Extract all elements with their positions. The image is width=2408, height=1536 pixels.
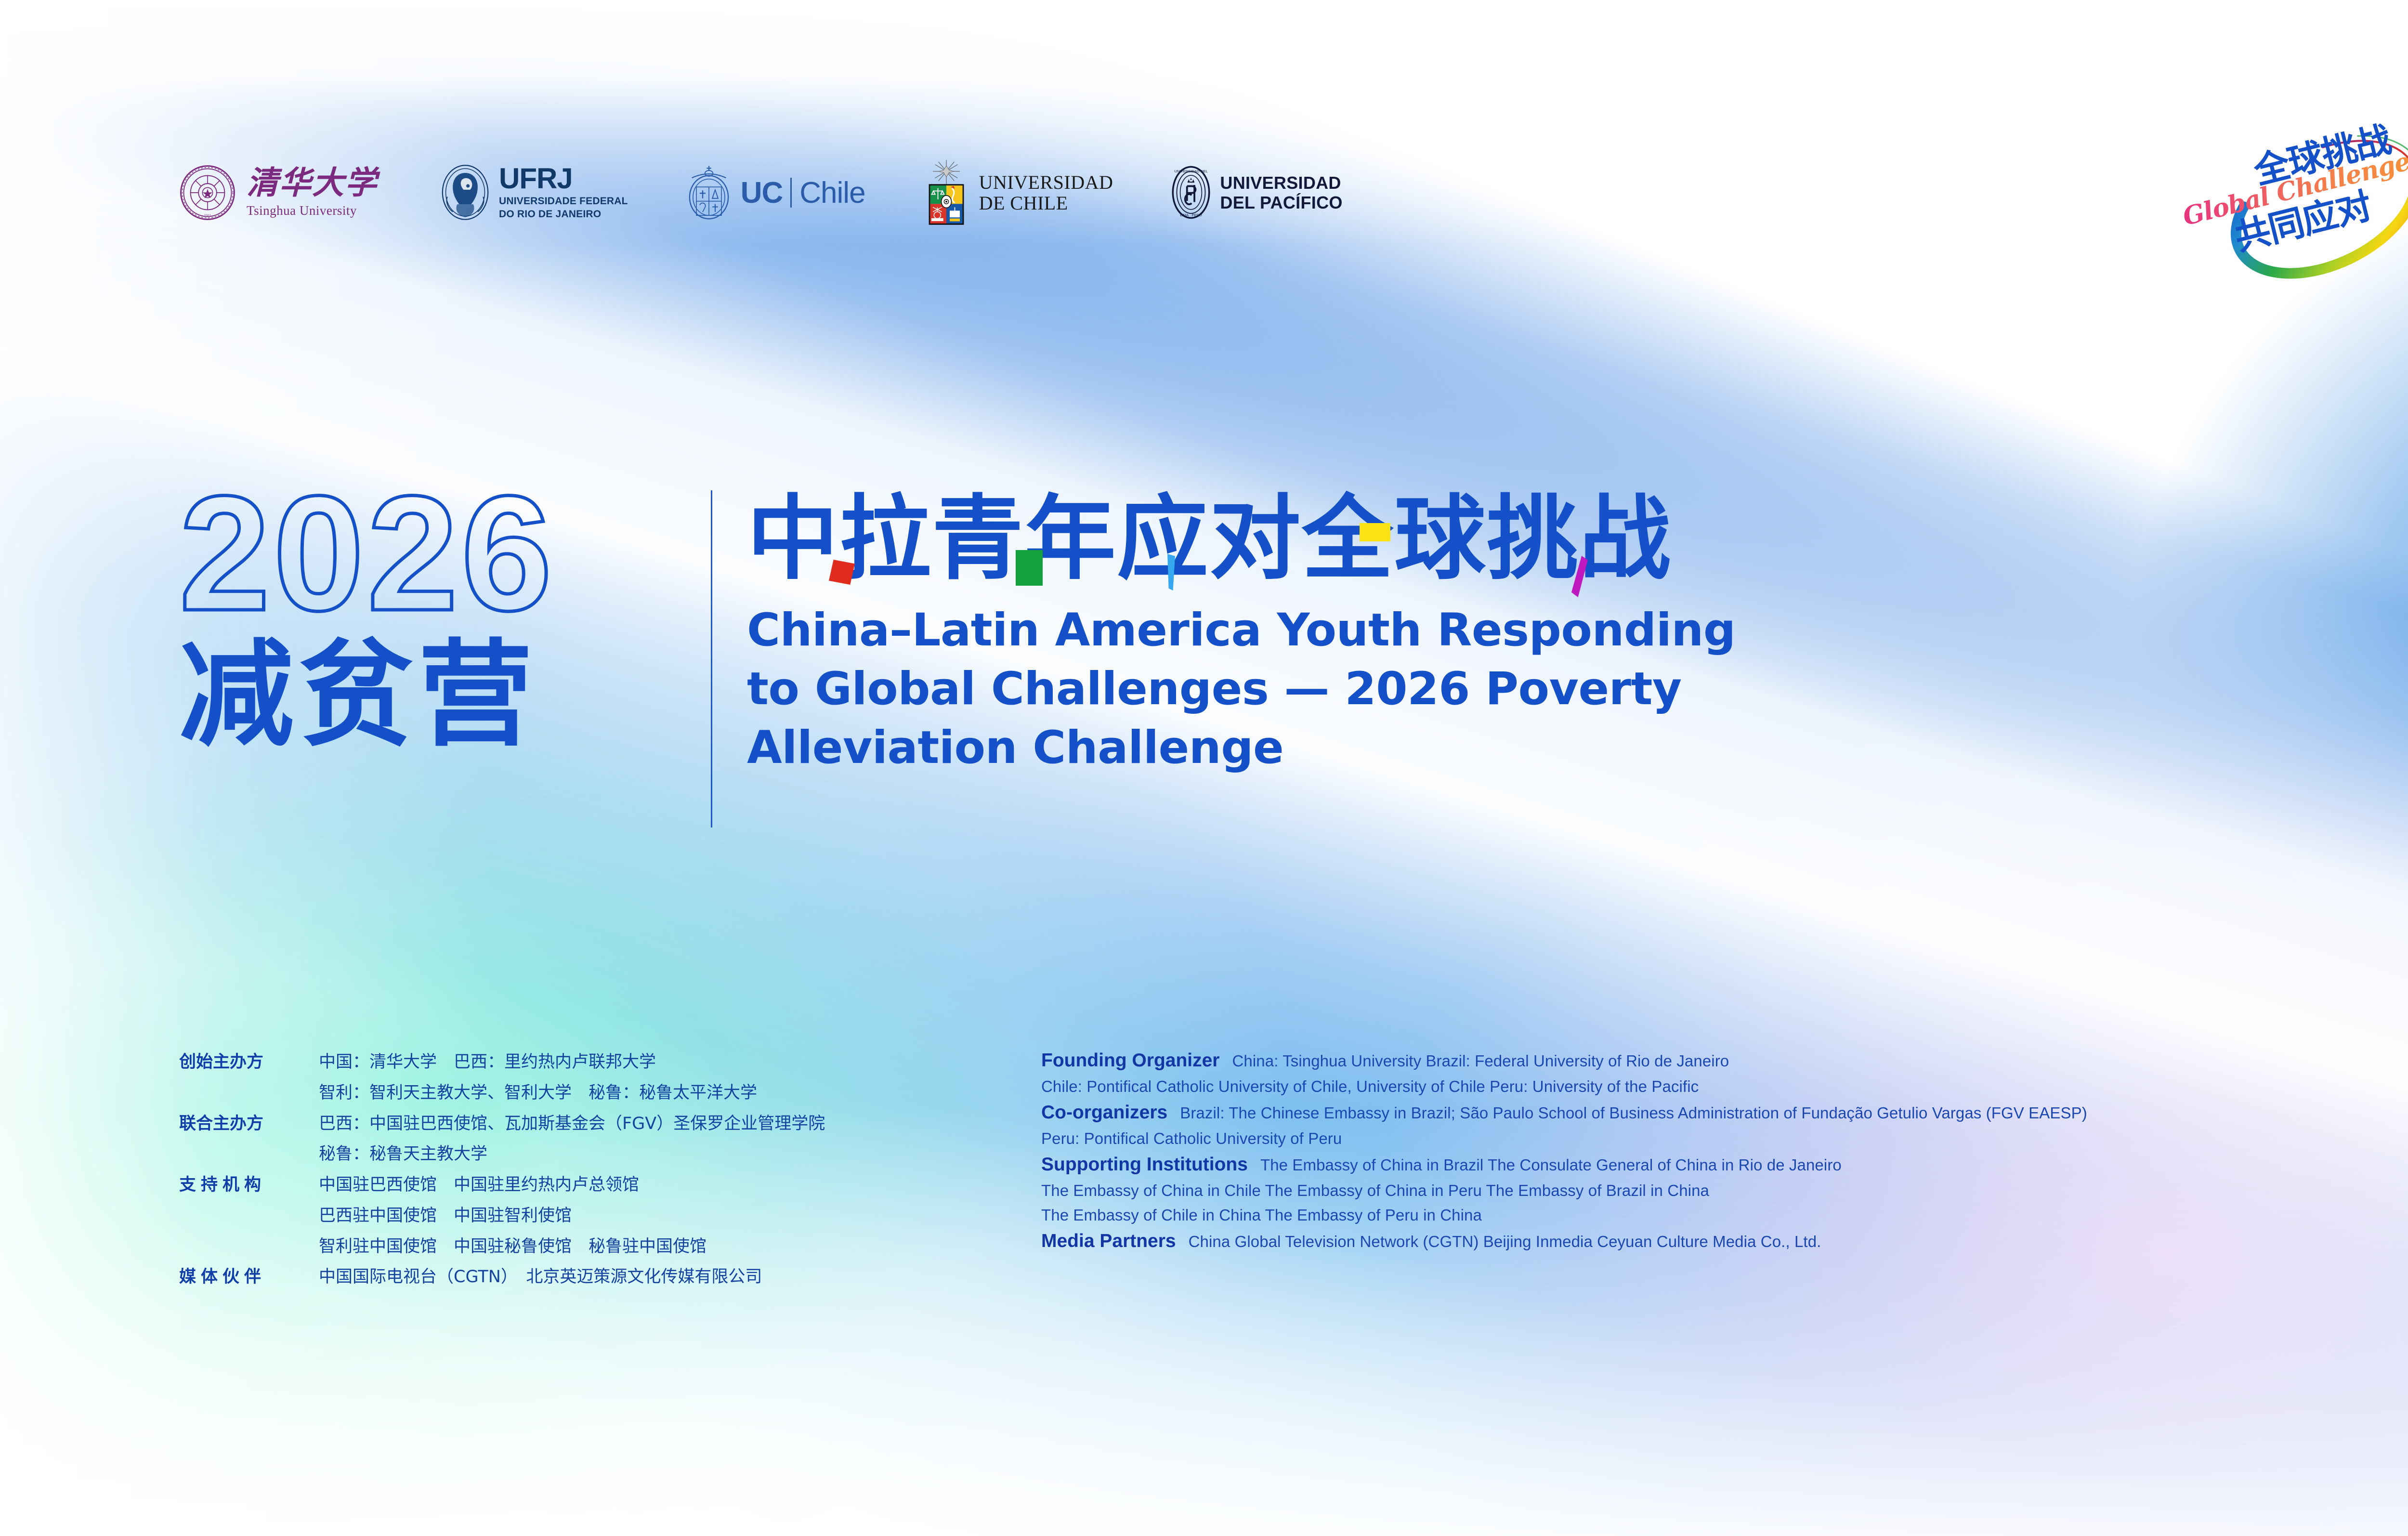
credit-value: The Embassy of Chile in China The Embass…	[1041, 1206, 1482, 1224]
uc-chile-crest-icon	[686, 164, 732, 221]
svg-text:UNIVERSIDAD DEL: UNIVERSIDAD DEL	[1175, 169, 1208, 173]
credit-row: The Embassy of China in Chile The Embass…	[1041, 1182, 2408, 1200]
universidad-del-pacifico-line2: DEL PACÍFICO	[1220, 193, 1342, 212]
camp-name-cn: 减贫营	[179, 638, 699, 753]
credit-label: 创始主办方	[179, 1050, 319, 1075]
credit-value: 中国驻巴西使馆 中国驻里约热内卢总领馆	[319, 1173, 639, 1197]
credit-value: The Embassy of China in Chile The Embass…	[1041, 1182, 1709, 1200]
universidad-del-pacifico-seal-icon: UNIVERSIDAD DEL LIMA · PERÚ	[1171, 166, 1211, 220]
credits-section: 创始主办方 中国：清华大学 巴西：里约热内卢联邦大学 创始主办方 智利：智利天主…	[179, 1050, 2408, 1296]
year-block: 2026 减贫营	[179, 482, 699, 827]
credit-value: 中国国际电视台（CGTN） 北京英迈策源文化传媒有限公司	[319, 1265, 762, 1289]
credit-row: 支持机构 智利驻中国使馆 中国驻秘鲁使馆 秘鲁驻中国使馆	[179, 1234, 1041, 1259]
ufrj-line2: DO RIO DE JANEIRO	[499, 208, 628, 221]
logo-universidad-de-chile: UNIVERSIDAD DE CHILE	[923, 159, 1113, 226]
credit-value: 巴西：中国驻巴西使馆、瓦加斯基金会（FGV）圣保罗企业管理学院	[319, 1112, 825, 1136]
logo-uc-chile: UC Chile	[686, 164, 865, 221]
headline-cn: 中拉青年应对全球挑战	[747, 493, 1736, 585]
credit-value: The Embassy of China in Brazil The Consu…	[1260, 1156, 1842, 1174]
credit-label: Supporting Institutions	[1041, 1154, 1248, 1175]
uc-chile-bold: UC	[741, 176, 783, 210]
credit-value: Chile: Pontifical Catholic University of…	[1041, 1077, 1699, 1096]
credit-row: Peru: Pontifical Catholic University of …	[1041, 1129, 2408, 1148]
credit-row: Chile: Pontifical Catholic University of…	[1041, 1077, 2408, 1096]
credit-value: 智利：智利天主教大学、智利大学 秘鲁：秘鲁太平洋大学	[319, 1081, 757, 1105]
heading-block: 中拉青年应对全球挑战 China–Latin America Youth Res…	[747, 482, 1736, 827]
uc-chile-light: Chile	[799, 176, 865, 210]
title-zone: 2026 减贫营 中拉青年应对全球挑战 China–Latin America …	[179, 482, 1736, 827]
credits-column-en: Founding Organizer China: Tsinghua Unive…	[1041, 1050, 2408, 1296]
headline-en-line2: to Global Challenges — 2026 Poverty	[747, 660, 1736, 719]
credit-label: Media Partners	[1041, 1231, 1176, 1252]
campaign-brandmark: 全球挑战 共同应对 Global Challenges United Effor…	[2158, 111, 2408, 303]
credit-value: Brazil: The Chinese Embassy in Brazil; S…	[1180, 1104, 2087, 1122]
headline-en-line3: Alleviation Challenge	[747, 719, 1736, 777]
universidad-del-pacifico-line1: UNIVERSIDAD	[1220, 173, 1342, 193]
headline-en: China–Latin America Youth Responding to …	[747, 601, 1736, 778]
credit-value: China: Tsinghua University Brazil: Feder…	[1232, 1052, 1729, 1070]
tsinghua-logo-en: Tsinghua University	[247, 203, 378, 218]
credit-row: 支持机构 巴西驻中国使馆 中国驻智利使馆	[179, 1204, 1041, 1228]
headline-cn-text: 中拉青年应对全球挑战	[747, 493, 1672, 585]
logo-ufrj: UFRJ UNIVERSIDADE FEDERAL DO RIO DE JANE…	[440, 164, 628, 221]
credit-value: 巴西驻中国使馆 中国驻智利使馆	[319, 1204, 572, 1228]
title-divider	[711, 490, 712, 827]
tsinghua-seal-icon: ·1911·	[179, 164, 236, 221]
svg-text:LIMA · PERÚ: LIMA · PERÚ	[1180, 213, 1203, 217]
universidad-de-chile-crest-icon	[923, 159, 969, 226]
credits-column-cn: 创始主办方 中国：清华大学 巴西：里约热内卢联邦大学 创始主办方 智利：智利天主…	[179, 1050, 1041, 1296]
credit-value: Peru: Pontifical Catholic University of …	[1041, 1129, 1342, 1148]
credit-row: Media Partners China Global Television N…	[1041, 1231, 2408, 1252]
credit-row: Founding Organizer China: Tsinghua Unive…	[1041, 1050, 2408, 1071]
credit-label: 媒体伙伴	[179, 1265, 319, 1289]
credit-row: 联合主办方 巴西：中国驻巴西使馆、瓦加斯基金会（FGV）圣保罗企业管理学院	[179, 1112, 1041, 1136]
uc-chile-separator	[790, 178, 792, 208]
credit-row: 联合主办方 秘鲁：秘鲁天主教大学	[179, 1142, 1041, 1167]
tsinghua-logo-cn: 清华大学	[247, 168, 378, 199]
svg-text:·1911·: ·1911·	[203, 213, 212, 218]
ufrj-minerva-seal-icon	[440, 164, 490, 221]
credit-label: Co-organizers	[1041, 1102, 1167, 1123]
headline-en-line1: China–Latin America Youth Responding	[747, 601, 1736, 660]
credit-row: 创始主办方 中国：清华大学 巴西：里约热内卢联邦大学	[179, 1050, 1041, 1075]
ufrj-acronym: UFRJ	[499, 165, 628, 192]
partner-logo-strip: ·1911· 清华大学 Tsinghua University UFRJ UNI…	[179, 159, 1343, 226]
credit-row: 创始主办方 智利：智利天主教大学、智利大学 秘鲁：秘鲁太平洋大学	[179, 1081, 1041, 1105]
ufrj-line1: UNIVERSIDADE FEDERAL	[499, 195, 628, 208]
credit-value: China Global Television Network (CGTN) B…	[1189, 1233, 1821, 1251]
credit-row: Co-organizers Brazil: The Chinese Embass…	[1041, 1102, 2408, 1123]
universidad-de-chile-line1: UNIVERSIDAD	[979, 172, 1113, 193]
credit-label: 支持机构	[179, 1173, 319, 1197]
year-outline-text: 2026	[179, 482, 699, 626]
credit-row: 媒体伙伴 中国国际电视台（CGTN） 北京英迈策源文化传媒有限公司	[179, 1265, 1041, 1289]
universidad-de-chile-line2: DE CHILE	[979, 193, 1113, 213]
credit-row: The Embassy of Chile in China The Embass…	[1041, 1206, 2408, 1224]
credit-row: Supporting Institutions The Embassy of C…	[1041, 1154, 2408, 1175]
credit-label: Founding Organizer	[1041, 1050, 1219, 1071]
brandmark-artwork: 全球挑战 共同应对 Global Challenges United Effor…	[2158, 111, 2408, 303]
logo-tsinghua-university: ·1911· 清华大学 Tsinghua University	[179, 164, 378, 221]
credit-value: 中国：清华大学 巴西：里约热内卢联邦大学	[319, 1050, 656, 1075]
credit-value: 智利驻中国使馆 中国驻秘鲁使馆 秘鲁驻中国使馆	[319, 1234, 707, 1259]
credit-row: 支持机构 中国驻巴西使馆 中国驻里约热内卢总领馆	[179, 1173, 1041, 1197]
credit-value: 秘鲁：秘鲁天主教大学	[319, 1142, 487, 1167]
credit-label: 联合主办方	[179, 1112, 319, 1136]
logo-universidad-del-pacifico: UNIVERSIDAD DEL LIMA · PERÚ UNIVERSIDAD …	[1171, 166, 1342, 220]
